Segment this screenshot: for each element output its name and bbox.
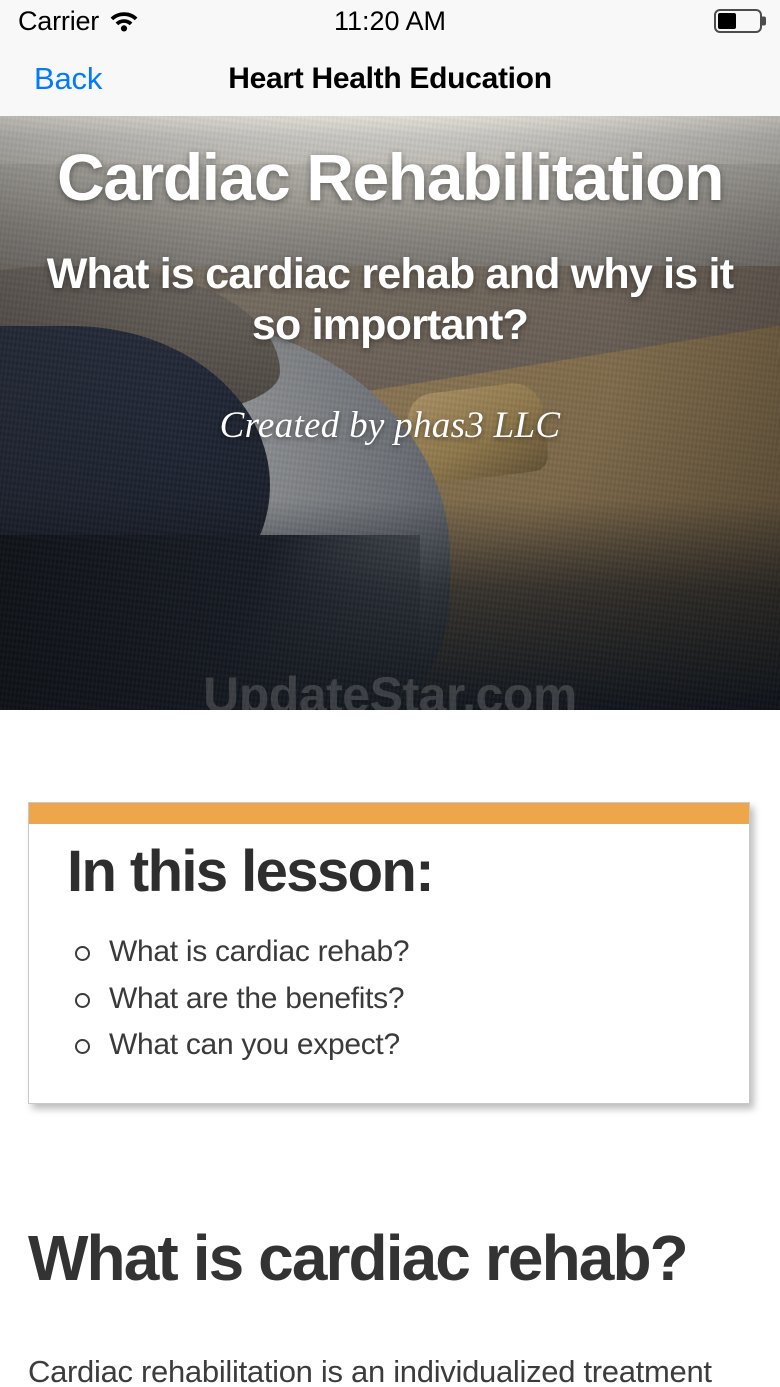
list-item: What are the benefits?	[67, 980, 715, 1018]
lesson-card-accent-bar	[29, 803, 749, 824]
hero-title: Cardiac Rehabilitation	[30, 144, 750, 211]
section-paragraph: Cardiac rehabilitation is an individuali…	[28, 1350, 748, 1387]
hero-credit: Created by phas3 LLC	[30, 404, 750, 447]
article-content: In this lesson: What is cardiac rehab? W…	[0, 802, 780, 1387]
hero-slide[interactable]: Cardiac Rehabilitation What is cardiac r…	[0, 116, 780, 710]
list-item: What is cardiac rehab?	[67, 933, 715, 971]
carrier-label: Carrier	[18, 6, 99, 37]
app-screen: Carrier 11:20 AM Back Heart Health Educa…	[0, 0, 780, 1387]
section-heading: What is cardiac rehab?	[28, 1222, 740, 1296]
lesson-card-body: In this lesson: What is cardiac rehab? W…	[29, 824, 749, 1103]
lesson-overview-card: In this lesson: What is cardiac rehab? W…	[28, 802, 750, 1104]
navigation-bar: Back Heart Health Education	[0, 42, 780, 116]
status-bar: Carrier 11:20 AM	[0, 0, 780, 42]
hero-subtitle: What is cardiac rehab and why is it so i…	[30, 249, 750, 350]
battery-fill	[718, 13, 736, 29]
status-bar-right	[714, 9, 762, 33]
list-item: What can you expect?	[67, 1026, 715, 1064]
lesson-card-heading: In this lesson:	[67, 842, 715, 903]
wifi-icon	[109, 9, 139, 33]
page-title: Heart Health Education	[0, 42, 780, 116]
status-bar-left: Carrier	[18, 6, 139, 37]
back-button[interactable]: Back	[34, 61, 102, 97]
lesson-topic-list: What is cardiac rehab? What are the bene…	[67, 933, 715, 1064]
battery-icon	[714, 9, 762, 33]
hero-text-block: Cardiac Rehabilitation What is cardiac r…	[0, 116, 780, 447]
